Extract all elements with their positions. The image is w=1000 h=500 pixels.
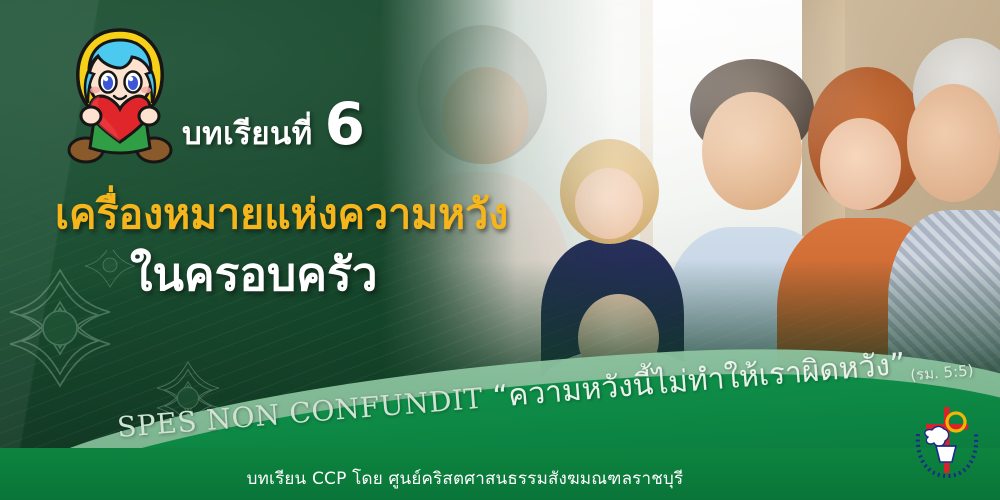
lesson-banner: บทเรียนที่ 6 เครื่องหมายแห่งความหวัง ในค… xyxy=(0,0,1000,500)
motto-scripture-reference: (รม. 5:5) xyxy=(909,358,974,387)
lesson-label: บทเรียนที่ xyxy=(182,108,313,158)
title-line-2: ในครอบครัว xyxy=(130,238,378,311)
diocese-cross-dove-logo xyxy=(910,404,984,484)
credit-text: บทเรียน CCP โดย ศูนย์คริสตศาสนธรรมสังฆมณ… xyxy=(0,465,1000,492)
lesson-heading: บทเรียนที่ 6 xyxy=(182,98,365,158)
lesson-number: 6 xyxy=(325,98,365,150)
child-holding-heart-mascot xyxy=(64,24,176,166)
